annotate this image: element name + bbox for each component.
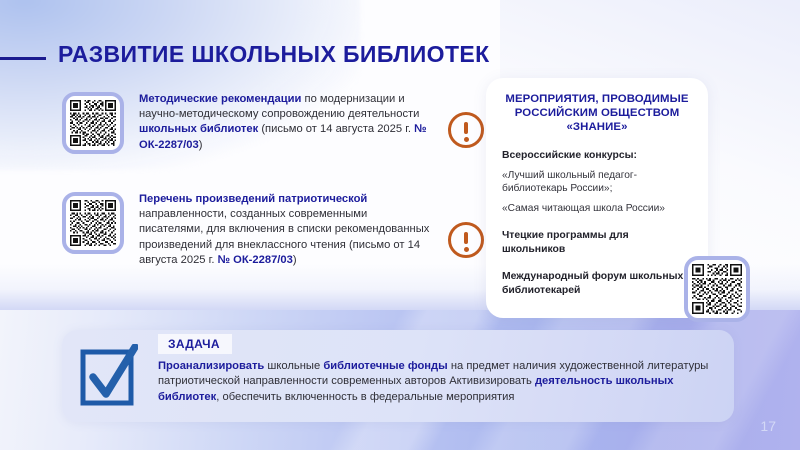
info-bold-lead: Перечень произведений патриотической (139, 193, 367, 205)
events-block: Международный форум школьных библиотекар… (502, 270, 692, 297)
qr-code-methodical-recommendations[interactable] (62, 92, 124, 154)
info-bold-mid: школьных библиотек (139, 123, 258, 135)
task-tag: ЗАДАЧА (158, 334, 232, 354)
checkbox-checked-icon (80, 344, 138, 406)
exclamation-dot (464, 137, 469, 142)
info-row-patriotic-works-list: Перечень произведений патриотической нап… (62, 192, 434, 268)
task-body: ЗАДАЧА Проанализировать школьные библиот… (158, 334, 718, 405)
task-line2-c: , обеспечить включенность в федеральные … (216, 391, 514, 403)
info-text-patriotic-works-list: Перечень произведений патриотической нап… (139, 192, 434, 268)
events-subheading: Всероссийские конкурсы: (502, 149, 692, 162)
qr-code-graphic (70, 200, 116, 246)
list-item: «Лучший школьный педагог-библиотекарь Ро… (502, 169, 692, 195)
events-card-title: МЕРОПРИЯТИЯ, ПРОВОДИМЫЕ РОССИЙСКИМ ОБЩЕС… (502, 92, 692, 134)
task-line1-c: библиотечные фонды (323, 360, 447, 372)
exclamation-circle-icon (448, 222, 484, 258)
slide-root: РАЗВИТИЕ ШКОЛЬНЫХ БИБЛИОТЕК (0, 0, 800, 450)
exclamation-circle-icon (448, 112, 484, 148)
info-body-3: ) (293, 254, 297, 266)
info-row-methodical-recommendations: Методические рекомендации по модернизаци… (62, 92, 434, 154)
exclamation-dot (464, 247, 469, 252)
info-text-methodical-recommendations: Методические рекомендации по модернизаци… (139, 92, 434, 153)
page-number: 17 (760, 418, 776, 434)
info-bold-lead: Методические рекомендации (139, 93, 301, 105)
qr-code-graphic (692, 264, 742, 314)
info-body-3: ) (199, 139, 203, 151)
events-card: МЕРОПРИЯТИЯ, ПРОВОДИМЫЕ РОССИЙСКИМ ОБЩЕС… (486, 78, 708, 318)
qr-code-patriotic-works-list[interactable] (62, 192, 124, 254)
task-line2-a: Активизировать (449, 375, 535, 387)
events-block: Чтецкие программы для школьников (502, 229, 692, 256)
info-body-2: (письмо от 14 августа 2025 г. (258, 123, 414, 135)
qr-code-graphic (70, 100, 116, 146)
info-bold-doc-number: № ОК-2287/03 (218, 254, 293, 266)
page-title: РАЗВИТИЕ ШКОЛЬНЫХ БИБЛИОТЕК (58, 41, 490, 68)
task-line1-b: школьные (264, 360, 323, 372)
exclamation-bar (464, 122, 469, 134)
task-line1-a: Проанализировать (158, 360, 264, 372)
qr-code-znanie-events[interactable] (684, 256, 750, 322)
exclamation-bar (464, 232, 469, 244)
task-text: Проанализировать школьные библиотечные ф… (158, 359, 718, 405)
title-rule (0, 57, 46, 60)
list-item: «Самая читающая школа России» (502, 202, 692, 215)
